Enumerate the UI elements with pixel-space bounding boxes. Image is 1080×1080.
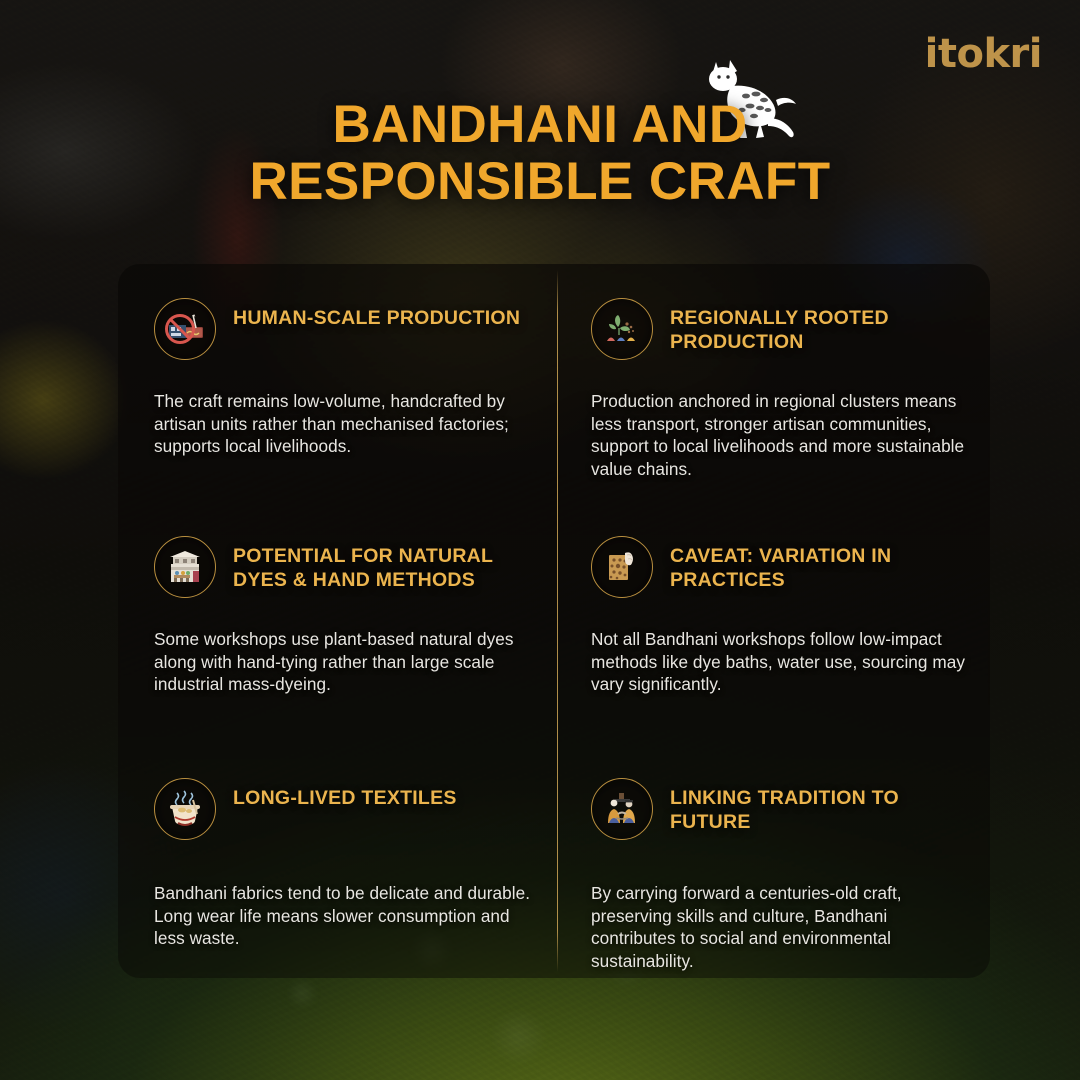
card-body: By carrying forward a centuries-old craf… — [591, 882, 966, 972]
card-header: CAVEAT: VARIATION IN PRACTICES — [591, 536, 966, 598]
card-header: LONG-LIVED TEXTILES — [154, 774, 539, 840]
card-body: Bandhani fabrics tend to be delicate and… — [154, 882, 539, 950]
card-body: The craft remains low-volume, handcrafte… — [154, 390, 539, 458]
steaming-dye-pot-icon — [154, 778, 216, 840]
content-panel: HUMAN-SCALE PRODUCTION The craft remains… — [118, 264, 990, 978]
card-body: Not all Bandhani workshops follow low-im… — [591, 628, 966, 696]
content-grid: HUMAN-SCALE PRODUCTION The craft remains… — [118, 264, 990, 978]
card-body: Production anchored in regional clusters… — [591, 390, 966, 480]
no-factory-icon — [154, 298, 216, 360]
card-header: LINKING TRADITION TO FUTURE — [591, 774, 966, 840]
card-header: REGIONALLY ROOTED PRODUCTION — [591, 298, 966, 360]
two-artisans-icon — [591, 778, 653, 840]
hand-holding-bandhani-fabric-icon — [591, 536, 653, 598]
card-title: CAVEAT: VARIATION IN PRACTICES — [670, 536, 966, 592]
card-title: REGIONALLY ROOTED PRODUCTION — [670, 298, 966, 354]
card-title: LONG-LIVED TEXTILES — [233, 778, 457, 810]
page-title: BANDHANI AND RESPONSIBLE CRAFT — [0, 96, 1080, 210]
itokri-logo[interactable]: itokri — [925, 34, 1042, 74]
card-linking-tradition-to-future[interactable]: LINKING TRADITION TO FUTURE By carrying … — [557, 740, 990, 978]
card-regionally-rooted-production[interactable]: REGIONALLY ROOTED PRODUCTION Production … — [557, 264, 990, 502]
card-header: POTENTIAL FOR NATURAL DYES & HAND METHOD… — [154, 536, 539, 598]
card-caveat-variation-in-practices[interactable]: CAVEAT: VARIATION IN PRACTICES Not all B… — [557, 502, 990, 740]
craft-shop-building-icon — [154, 536, 216, 598]
card-title: LINKING TRADITION TO FUTURE — [670, 778, 966, 834]
card-natural-dyes-hand-methods[interactable]: POTENTIAL FOR NATURAL DYES & HAND METHOD… — [118, 502, 557, 740]
plant-dye-powders-icon — [591, 298, 653, 360]
infographic-poster: itokri BANDHANI AND — [0, 0, 1080, 1080]
card-title: POTENTIAL FOR NATURAL DYES & HAND METHOD… — [233, 536, 539, 592]
card-header: HUMAN-SCALE PRODUCTION — [154, 298, 539, 360]
title-line-2: RESPONSIBLE CRAFT — [110, 153, 970, 210]
card-long-lived-textiles[interactable]: LONG-LIVED TEXTILES Bandhani fabrics ten… — [118, 740, 557, 978]
card-body: Some workshops use plant-based natural d… — [154, 628, 539, 696]
card-human-scale-production[interactable]: HUMAN-SCALE PRODUCTION The craft remains… — [118, 264, 557, 502]
card-title: HUMAN-SCALE PRODUCTION — [233, 298, 520, 330]
title-line-1: BANDHANI AND — [332, 95, 747, 154]
